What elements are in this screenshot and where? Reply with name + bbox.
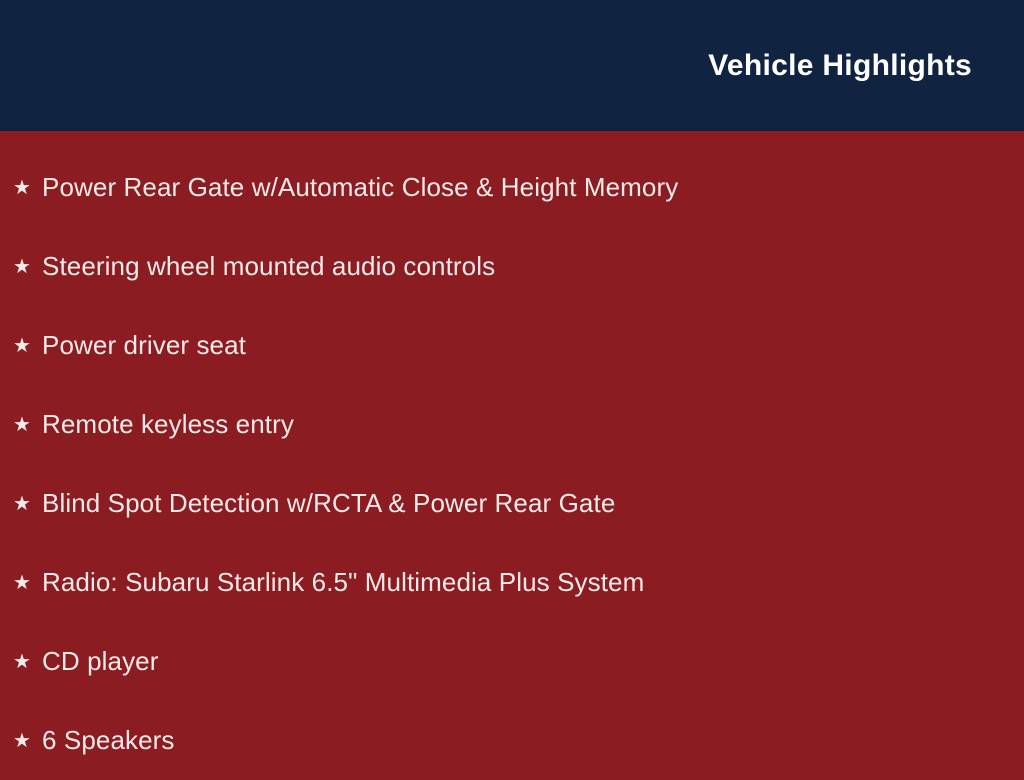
list-item-label: Blind Spot Detection w/RCTA & Power Rear… (42, 489, 615, 519)
list-item: ★ Power Rear Gate w/Automatic Close & He… (0, 148, 1024, 227)
list-item: ★ Steering wheel mounted audio controls (0, 227, 1024, 306)
list-item-label: Power Rear Gate w/Automatic Close & Heig… (42, 173, 678, 203)
star-icon: ★ (13, 652, 42, 672)
list-item-label: Remote keyless entry (42, 410, 294, 440)
page-title: Vehicle Highlights (708, 51, 972, 81)
vehicle-highlights-list: ★ Power Rear Gate w/Automatic Close & He… (0, 148, 1024, 780)
vehicle-highlights-slide: Vehicle Highlights ★ Power Rear Gate w/A… (0, 0, 1024, 768)
list-item: ★ Radio: Subaru Starlink 6.5" Multimedia… (0, 543, 1024, 622)
list-item-label: Power driver seat (42, 331, 246, 361)
star-icon: ★ (13, 178, 42, 198)
list-item-label: Radio: Subaru Starlink 6.5" Multimedia P… (42, 568, 644, 598)
list-item-label: Steering wheel mounted audio controls (42, 252, 495, 282)
list-item: ★ Power driver seat (0, 306, 1024, 385)
slide-header: Vehicle Highlights (0, 0, 1024, 131)
star-icon: ★ (13, 573, 42, 593)
list-item-label: CD player (42, 647, 159, 677)
star-icon: ★ (13, 257, 42, 277)
slide-body: ★ Power Rear Gate w/Automatic Close & He… (0, 131, 1024, 780)
list-item-label: 6 Speakers (42, 726, 175, 756)
list-item: ★ Blind Spot Detection w/RCTA & Power Re… (0, 464, 1024, 543)
star-icon: ★ (13, 415, 42, 435)
star-icon: ★ (13, 494, 42, 514)
star-icon: ★ (13, 731, 42, 751)
star-icon: ★ (13, 336, 42, 356)
list-item: ★ Remote keyless entry (0, 385, 1024, 464)
list-item: ★ 6 Speakers (0, 701, 1024, 780)
list-item: ★ CD player (0, 622, 1024, 701)
